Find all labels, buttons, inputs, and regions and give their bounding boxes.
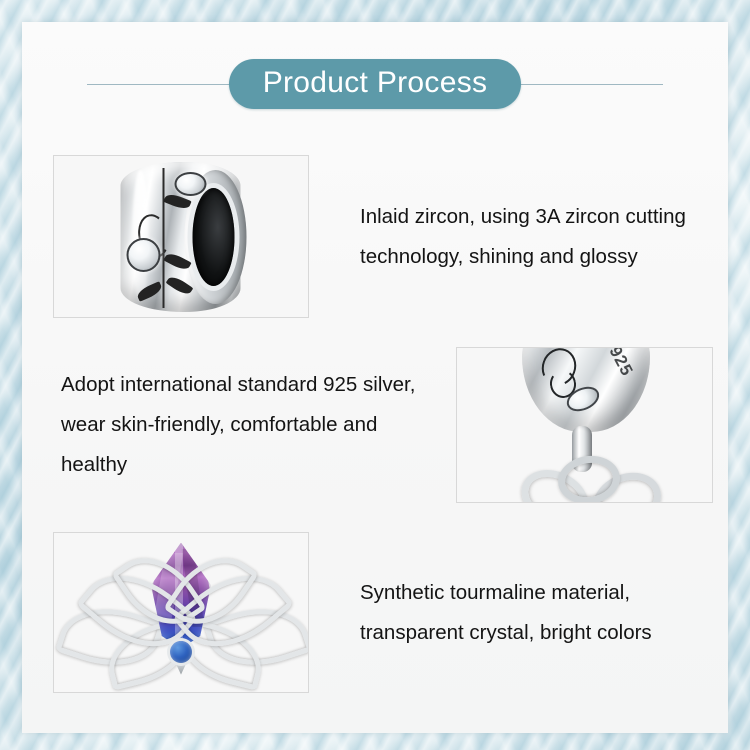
feature-row-silver: Adopt international standard 925 silver,… [53, 347, 713, 503]
page-header: Product Process [22, 56, 728, 112]
bead-hole [193, 188, 235, 286]
dangle-charm-illustration: S925 [480, 347, 690, 503]
header-rule-right [507, 84, 663, 85]
feature-row-tourmaline: Synthetic tourmaline material, transpare… [53, 532, 713, 693]
inner-page: Product Process [22, 22, 728, 733]
feature-caption-silver: Adopt international standard 925 silver,… [53, 365, 456, 485]
feature-caption-tourmaline: Synthetic tourmaline material, transpare… [309, 573, 713, 653]
barrel-bead-illustration [89, 158, 274, 316]
feature-row-zircon: Inlaid zircon, using 3A zircon cutting t… [53, 155, 713, 318]
blue-accent-gem [170, 641, 192, 663]
product-photo-dangle-charm: S925 [456, 347, 713, 503]
product-process-poster: Product Process [0, 0, 750, 750]
page-title: Product Process [229, 59, 522, 109]
product-photo-lotus-charm [53, 532, 309, 693]
lotus-charm-illustration [66, 541, 296, 691]
zircon-stone [175, 172, 207, 196]
product-photo-barrel-bead [53, 155, 309, 318]
feature-caption-zircon: Inlaid zircon, using 3A zircon cutting t… [309, 197, 713, 277]
header-rule-left [87, 84, 243, 85]
zircon-stone [127, 238, 161, 272]
